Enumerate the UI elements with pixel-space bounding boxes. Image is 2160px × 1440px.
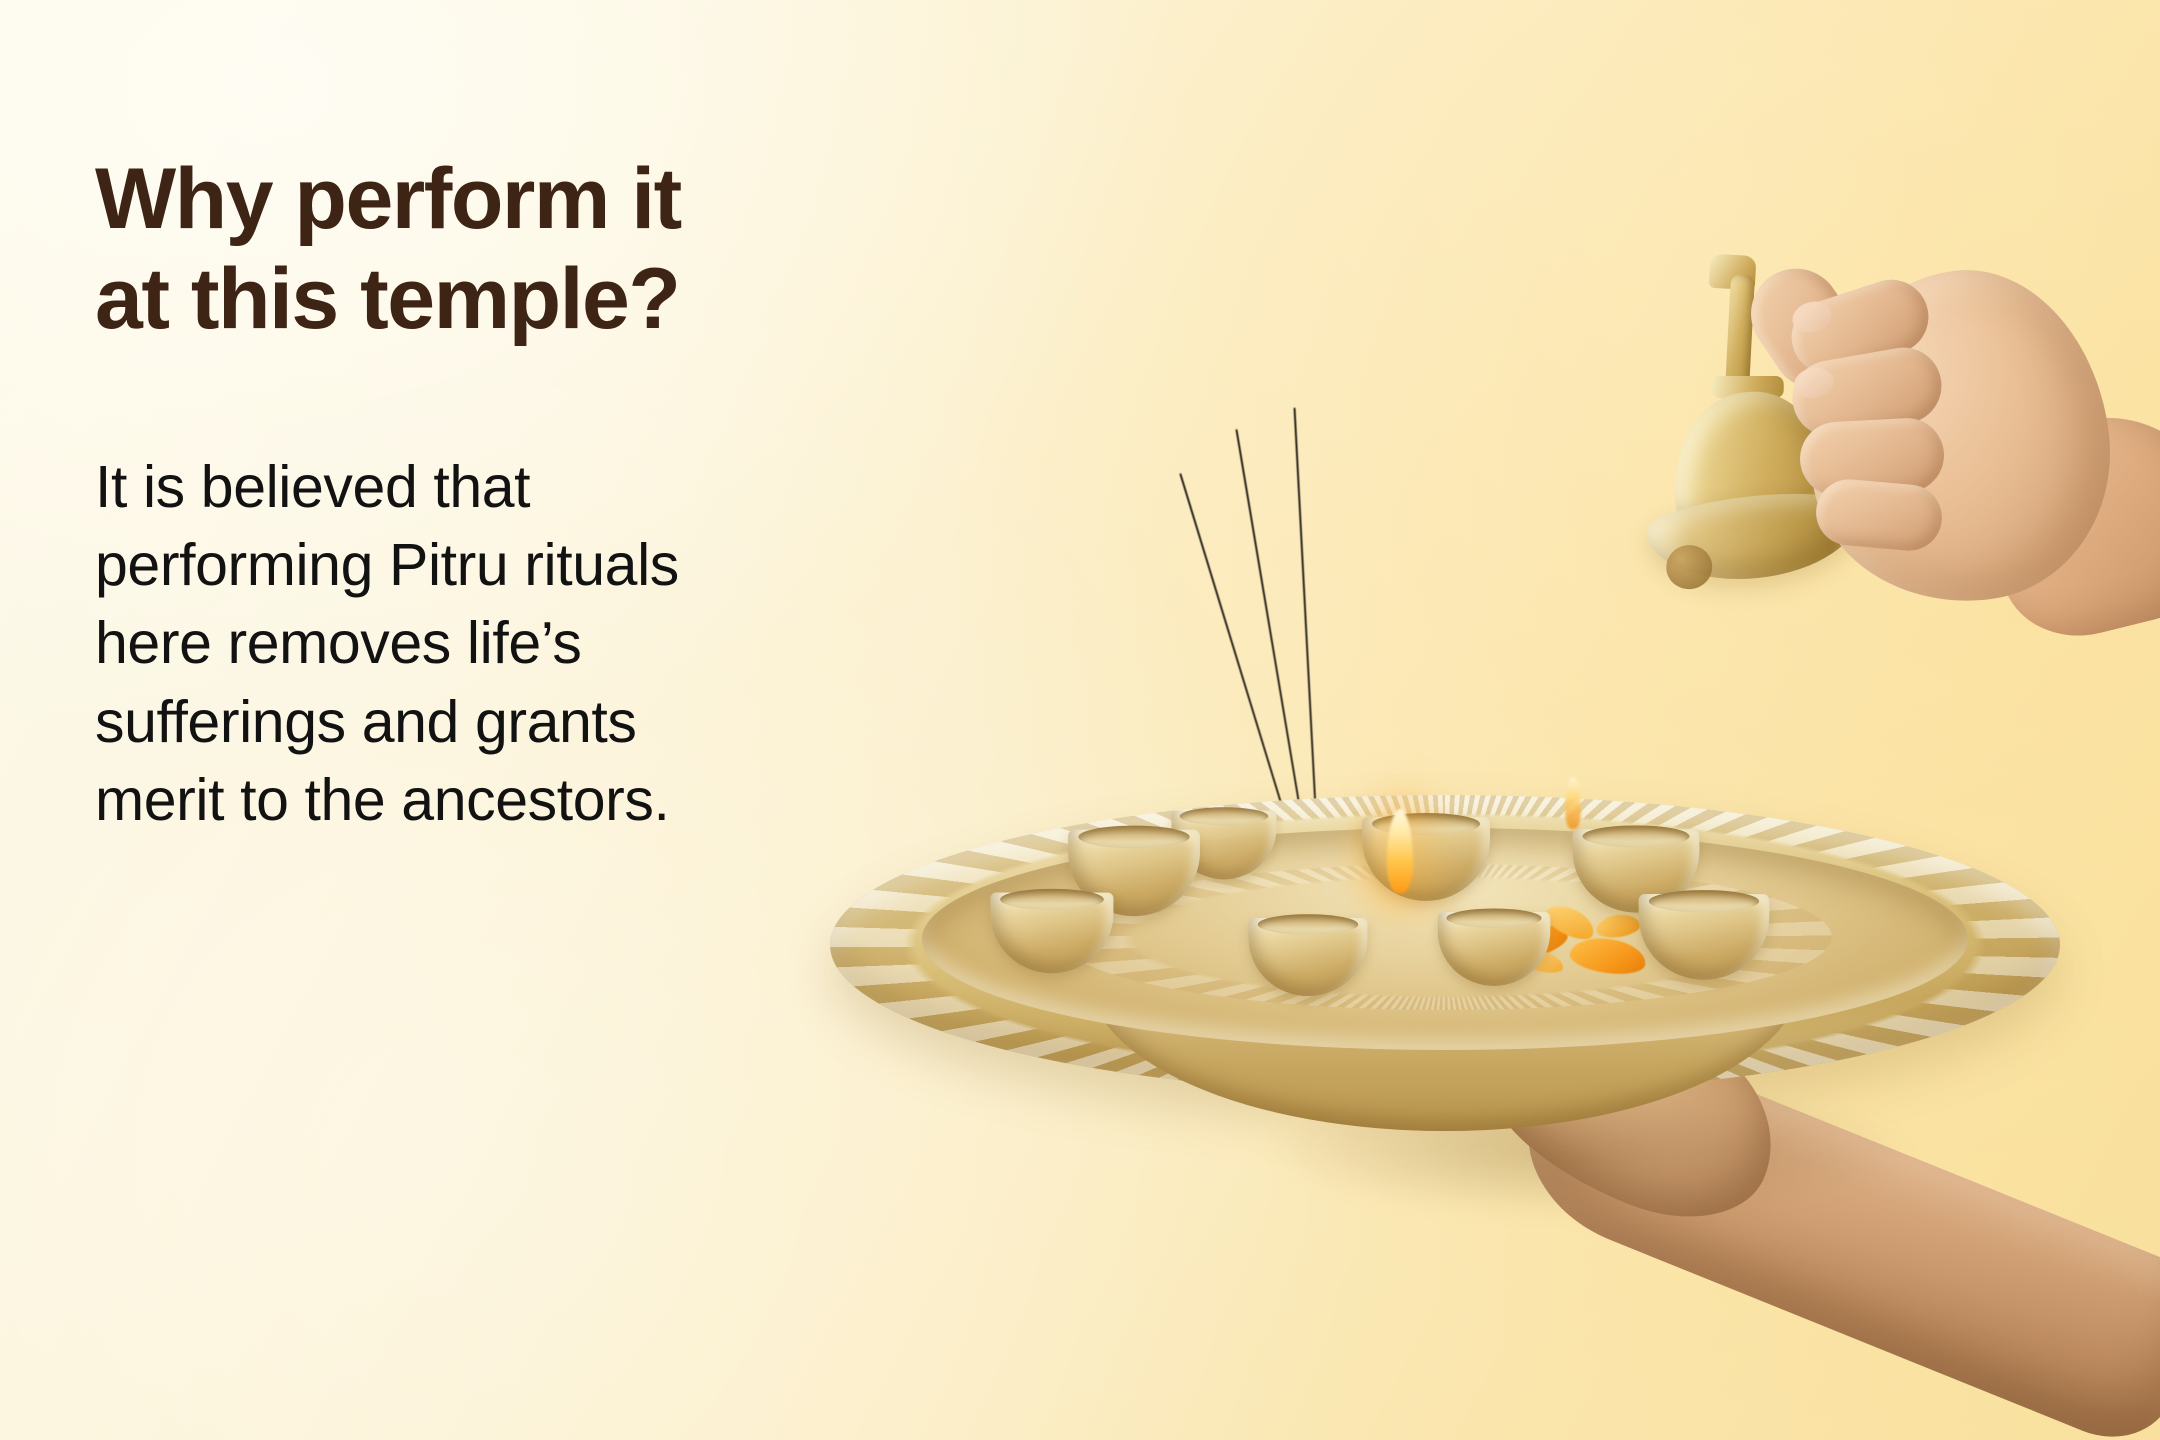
body-line-1: It is believed that <box>95 448 955 526</box>
info-card-canvas: Why perform it at this temple? It is bel… <box>0 0 2160 1440</box>
small-flame <box>1565 777 1581 829</box>
hand-with-bell <box>1640 250 2160 720</box>
headline-line-1: Why perform it <box>95 150 955 250</box>
headline-line-2: at this temple? <box>95 250 955 350</box>
body-line-2: performing Pitru rituals <box>95 526 955 604</box>
petal <box>1568 934 1648 978</box>
petal <box>1595 912 1642 940</box>
body-line-4: sufferings and grants <box>95 683 955 761</box>
bell-handle <box>1725 274 1755 391</box>
text-column: Why perform it at this temple? It is bel… <box>95 150 955 840</box>
page-title: Why perform it at this temple? <box>95 150 955 350</box>
puja-thali <box>830 795 2060 1095</box>
body-line-5: merit to the ancestors. <box>95 761 955 839</box>
ritual-photo <box>1040 0 2160 1440</box>
body-line-3: here removes life’s <box>95 604 955 682</box>
body-paragraph: It is believed that performing Pitru rit… <box>95 448 955 840</box>
